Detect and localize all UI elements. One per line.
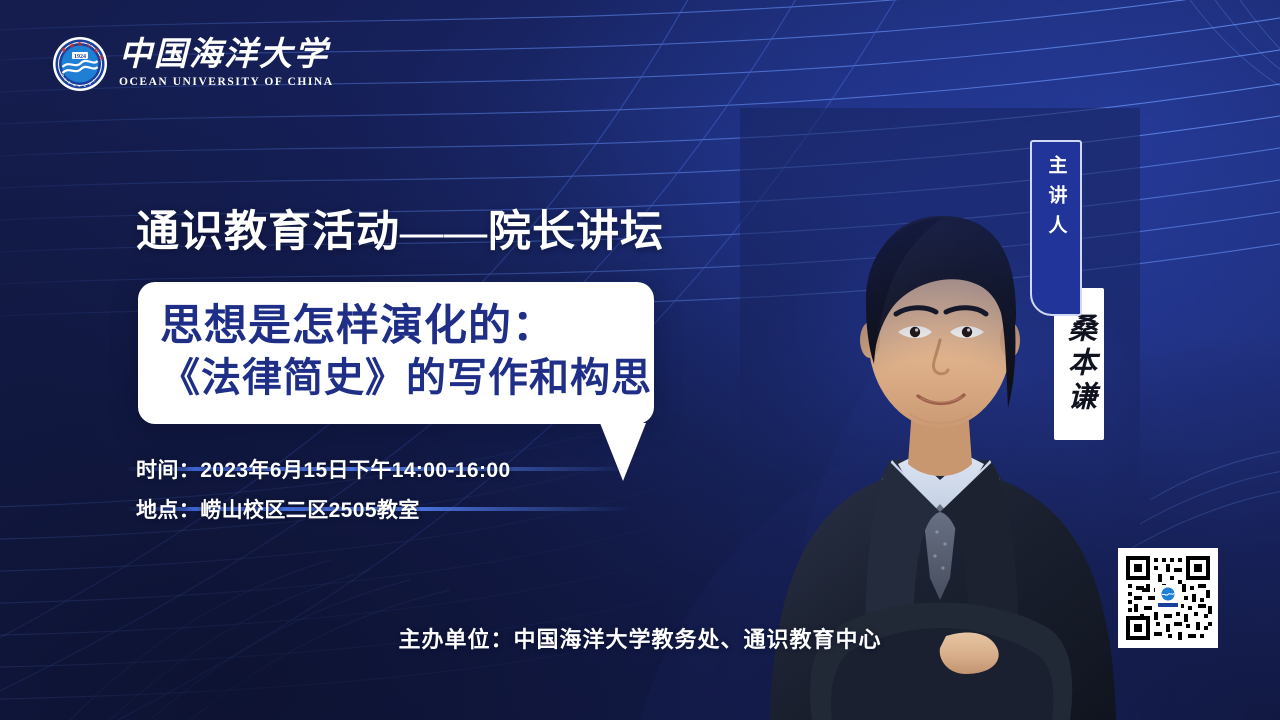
- speaker-role-label: 主讲人: [1047, 155, 1066, 245]
- event-location-row: 地点：崂山校区二区2505教室: [136, 492, 606, 526]
- event-details: 时间：2023年6月15日下午14:00-16:00 地点：崂山校区二区2505…: [136, 452, 606, 532]
- title-speech-bubble: 思想是怎样演化的： 《法律简史》的写作和构思: [138, 282, 654, 424]
- ocean-university-seal-emblem: 1924 海 纳 百 川 取 则 O C E A N U O C: [52, 36, 108, 92]
- event-time-text: 时间：2023年6月15日下午14:00-16:00: [136, 454, 511, 484]
- lecture-title-line-1: 思想是怎样演化的：: [160, 299, 632, 353]
- qr-code[interactable]: [1118, 548, 1218, 648]
- speaker-badge: 桑本谦 主讲人: [1030, 140, 1082, 316]
- speaker-role-plate: 主讲人: [1030, 140, 1082, 316]
- university-logo: 1924 海 纳 百 川 取 则 O C E A N U O C: [52, 36, 334, 92]
- university-name-cn: 中国海洋大学: [119, 39, 334, 72]
- speaker-name: 桑本谦: [1065, 313, 1094, 415]
- organizer-text: 主办单位：中国海洋大学教务处、通识教育中心: [0, 622, 1280, 654]
- title-bubble-body: 思想是怎样演化的： 《法律简史》的写作和构思: [138, 282, 654, 424]
- speech-bubble-tail-icon: [600, 423, 646, 481]
- event-time-row: 时间：2023年6月15日下午14:00-16:00: [136, 452, 606, 486]
- lecture-title-line-2: 《法律简史》的写作和构思: [160, 353, 632, 403]
- event-poster: 1924 海 纳 百 川 取 则 O C E A N U O C: [0, 0, 1280, 720]
- university-logo-text: 中国海洋大学 OCEAN UNIVERSITY OF CHINA: [119, 39, 334, 89]
- page-title: 通识教育活动——院长讲坛: [136, 197, 664, 259]
- svg-text:1924: 1924: [74, 54, 86, 60]
- event-location-text: 地点：崂山校区二区2505教室: [136, 494, 420, 524]
- university-name-en: OCEAN UNIVERSITY OF CHINA: [119, 77, 334, 89]
